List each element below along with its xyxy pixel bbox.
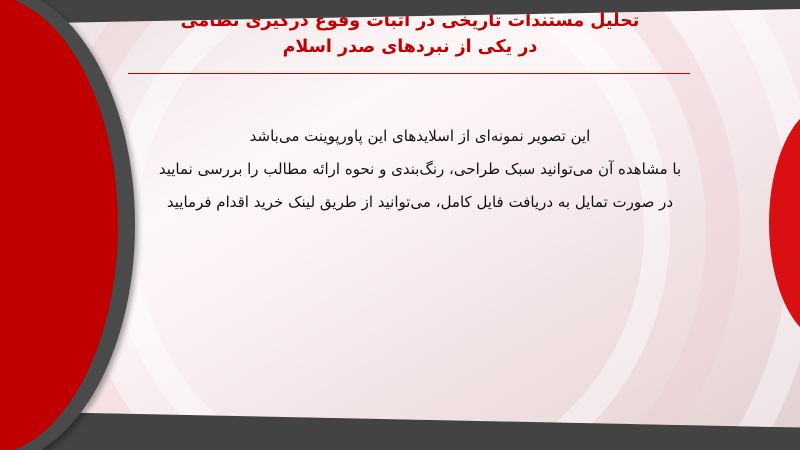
- title-divider: [128, 73, 690, 74]
- presentation-slide: تحلیل مستندات تاریخی در اثبات وقوع درگیر…: [0, 0, 800, 450]
- slide-body-text: این تصویر نمونه‌ای از اسلایدهای این پاور…: [100, 120, 740, 219]
- slide-body-line-2: با مشاهده آن می‌توانید سبک طراحی، رنگ‌بن…: [100, 153, 740, 186]
- slide-body-line-3: در صورت تمایل به دریافت فایل کامل، می‌تو…: [100, 186, 740, 219]
- slide-body-line-1: این تصویر نمونه‌ای از اسلایدهای این پاور…: [100, 120, 740, 153]
- slide-title-line-2: در یکی از نبردهای صدر اسلام: [120, 34, 700, 60]
